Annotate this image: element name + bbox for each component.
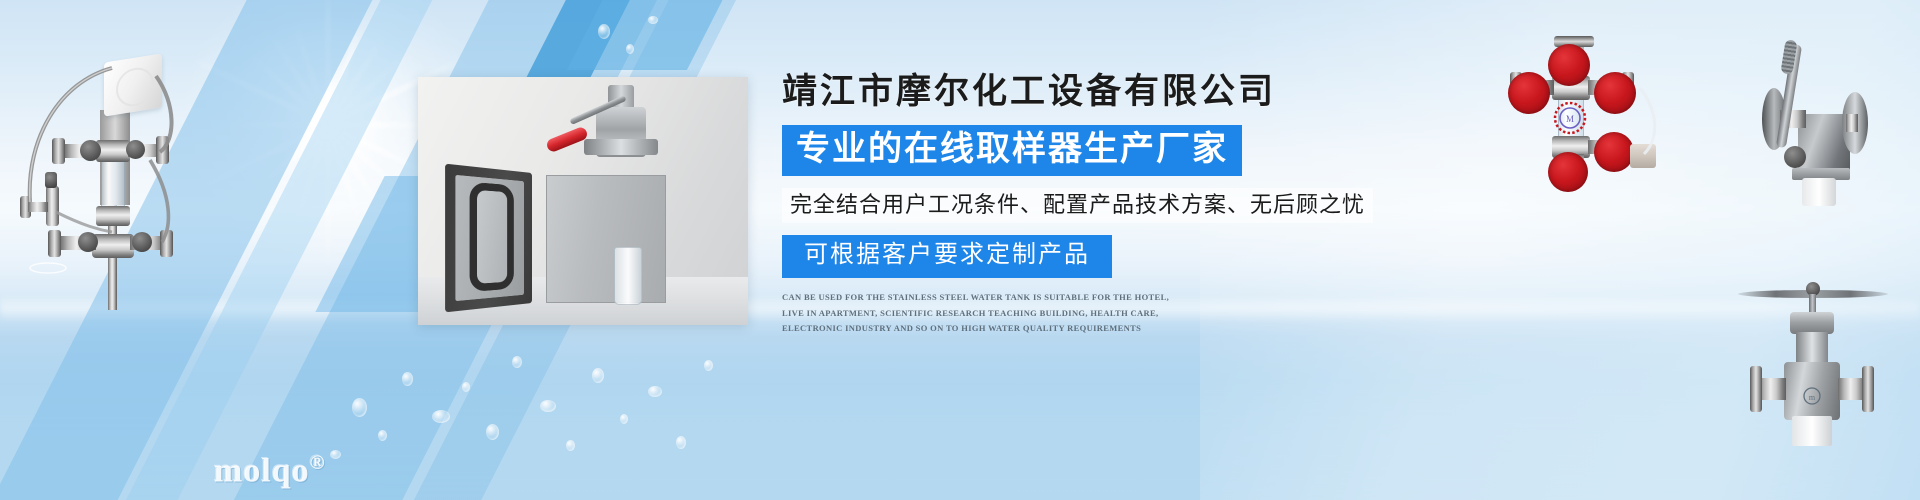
water-droplet-icon	[592, 368, 604, 383]
sun-ray-icon	[293, 24, 364, 226]
water-droplet-icon	[402, 372, 413, 386]
water-droplet-icon	[462, 382, 470, 392]
headline-subline: 完全结合用户工况条件、配置产品技术方案、无后顾之忧	[782, 188, 1373, 223]
sun-ray-icon	[270, 34, 386, 215]
brand-emblem-icon: m	[1798, 384, 1826, 408]
headline-primary: 专业的在线取样器生产厂家	[782, 125, 1242, 176]
sun-ray-icon	[248, 53, 408, 198]
sun-ray-icon	[223, 122, 433, 128]
certification-seal-icon: M	[1546, 92, 1594, 140]
water-droplet-icon	[378, 430, 387, 441]
water-droplet-icon	[330, 450, 341, 459]
tubing-icon	[0, 20, 200, 310]
product-photo-sampler-cabinet	[418, 77, 748, 325]
water-droplet-icon	[648, 16, 658, 24]
water-droplet-icon	[676, 436, 686, 449]
product-handwheel-flanged-sampling-valve: m	[1712, 262, 1912, 462]
sun-ray-icon	[248, 53, 408, 198]
product-red-handwheel-valve-manifold: M	[1490, 22, 1690, 182]
banner-text-block: 靖江市摩尔化工设备有限公司 专业的在线取样器生产厂家 完全结合用户工况条件、配置…	[782, 70, 1402, 337]
water-droplet-icon	[566, 440, 575, 451]
headline-custom-order: 可根据客户要求定制产品	[782, 235, 1112, 278]
product-online-sampler-assembly	[0, 20, 200, 310]
water-droplet-icon	[620, 414, 628, 424]
sun-ray-icon	[325, 0, 331, 275]
water-droplet-icon	[512, 356, 522, 368]
water-droplet-icon	[598, 24, 610, 39]
sun-ray-icon	[293, 24, 364, 226]
english-description: CAN BE USED FOR THE STAINLESS STEEL WATE…	[782, 290, 1192, 337]
svg-text:m: m	[1809, 393, 1816, 402]
water-droplet-icon	[704, 360, 713, 371]
watermark-logo: molqo®	[214, 452, 326, 490]
water-droplet-icon	[432, 410, 450, 423]
product-lever-flanged-sampler-valve	[1710, 22, 1910, 222]
water-droplet-icon	[540, 400, 556, 412]
svg-text:M: M	[1566, 114, 1574, 124]
water-droplet-icon	[626, 44, 634, 54]
sun-ray-icon	[270, 34, 386, 215]
registered-mark-icon: ®	[310, 452, 326, 474]
water-droplet-icon	[486, 424, 499, 440]
water-droplet-icon	[648, 386, 662, 397]
water-droplet-icon	[352, 398, 367, 417]
promo-banner: 靖江市摩尔化工设备有限公司 专业的在线取样器生产厂家 完全结合用户工况条件、配置…	[0, 0, 1920, 500]
watermark-text: molqo	[214, 452, 310, 489]
diagonal-accent-shape	[567, 0, 753, 70]
company-name: 靖江市摩尔化工设备有限公司	[782, 70, 1402, 114]
